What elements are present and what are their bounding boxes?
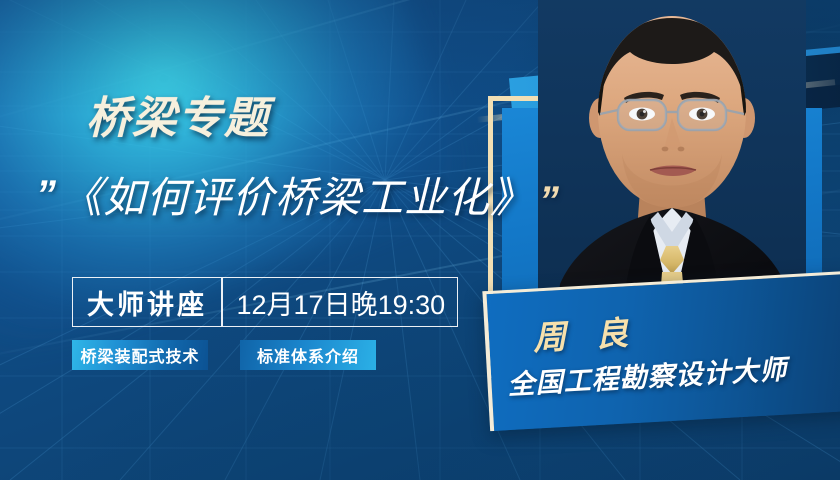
subtitle-row: ” 《如何评价桥梁工业化》 ” — [36, 173, 557, 219]
quote-open-icon: ” — [36, 175, 54, 215]
subtitle: 《如何评价桥梁工业化》 — [60, 177, 533, 219]
lecture-info-bar: 大师讲座 12月17日晚19:30 — [72, 277, 458, 327]
topic-tag: 标准体系介绍 — [240, 340, 376, 370]
topic-tag: 桥梁装配式技术 — [72, 340, 208, 370]
speaker-name-plate: 周 良 全国工程勘察设计大师 — [482, 271, 840, 431]
lecture-datetime: 12月17日晚19:30 — [223, 278, 458, 326]
topic-tags: 桥梁装配式技术 标准体系介绍 — [72, 340, 376, 370]
quote-close-icon: ” — [539, 181, 557, 221]
lecture-type-label: 大师讲座 — [73, 278, 221, 326]
speaker-composition: 周 良 全国工程勘察设计大师 — [480, 0, 840, 480]
lecture-poster: 周 良 全国工程勘察设计大师 桥梁专题 ” 《如何评价桥梁工业化》 ” 大师讲座… — [0, 0, 840, 480]
page-title: 桥梁专题 — [86, 97, 270, 141]
